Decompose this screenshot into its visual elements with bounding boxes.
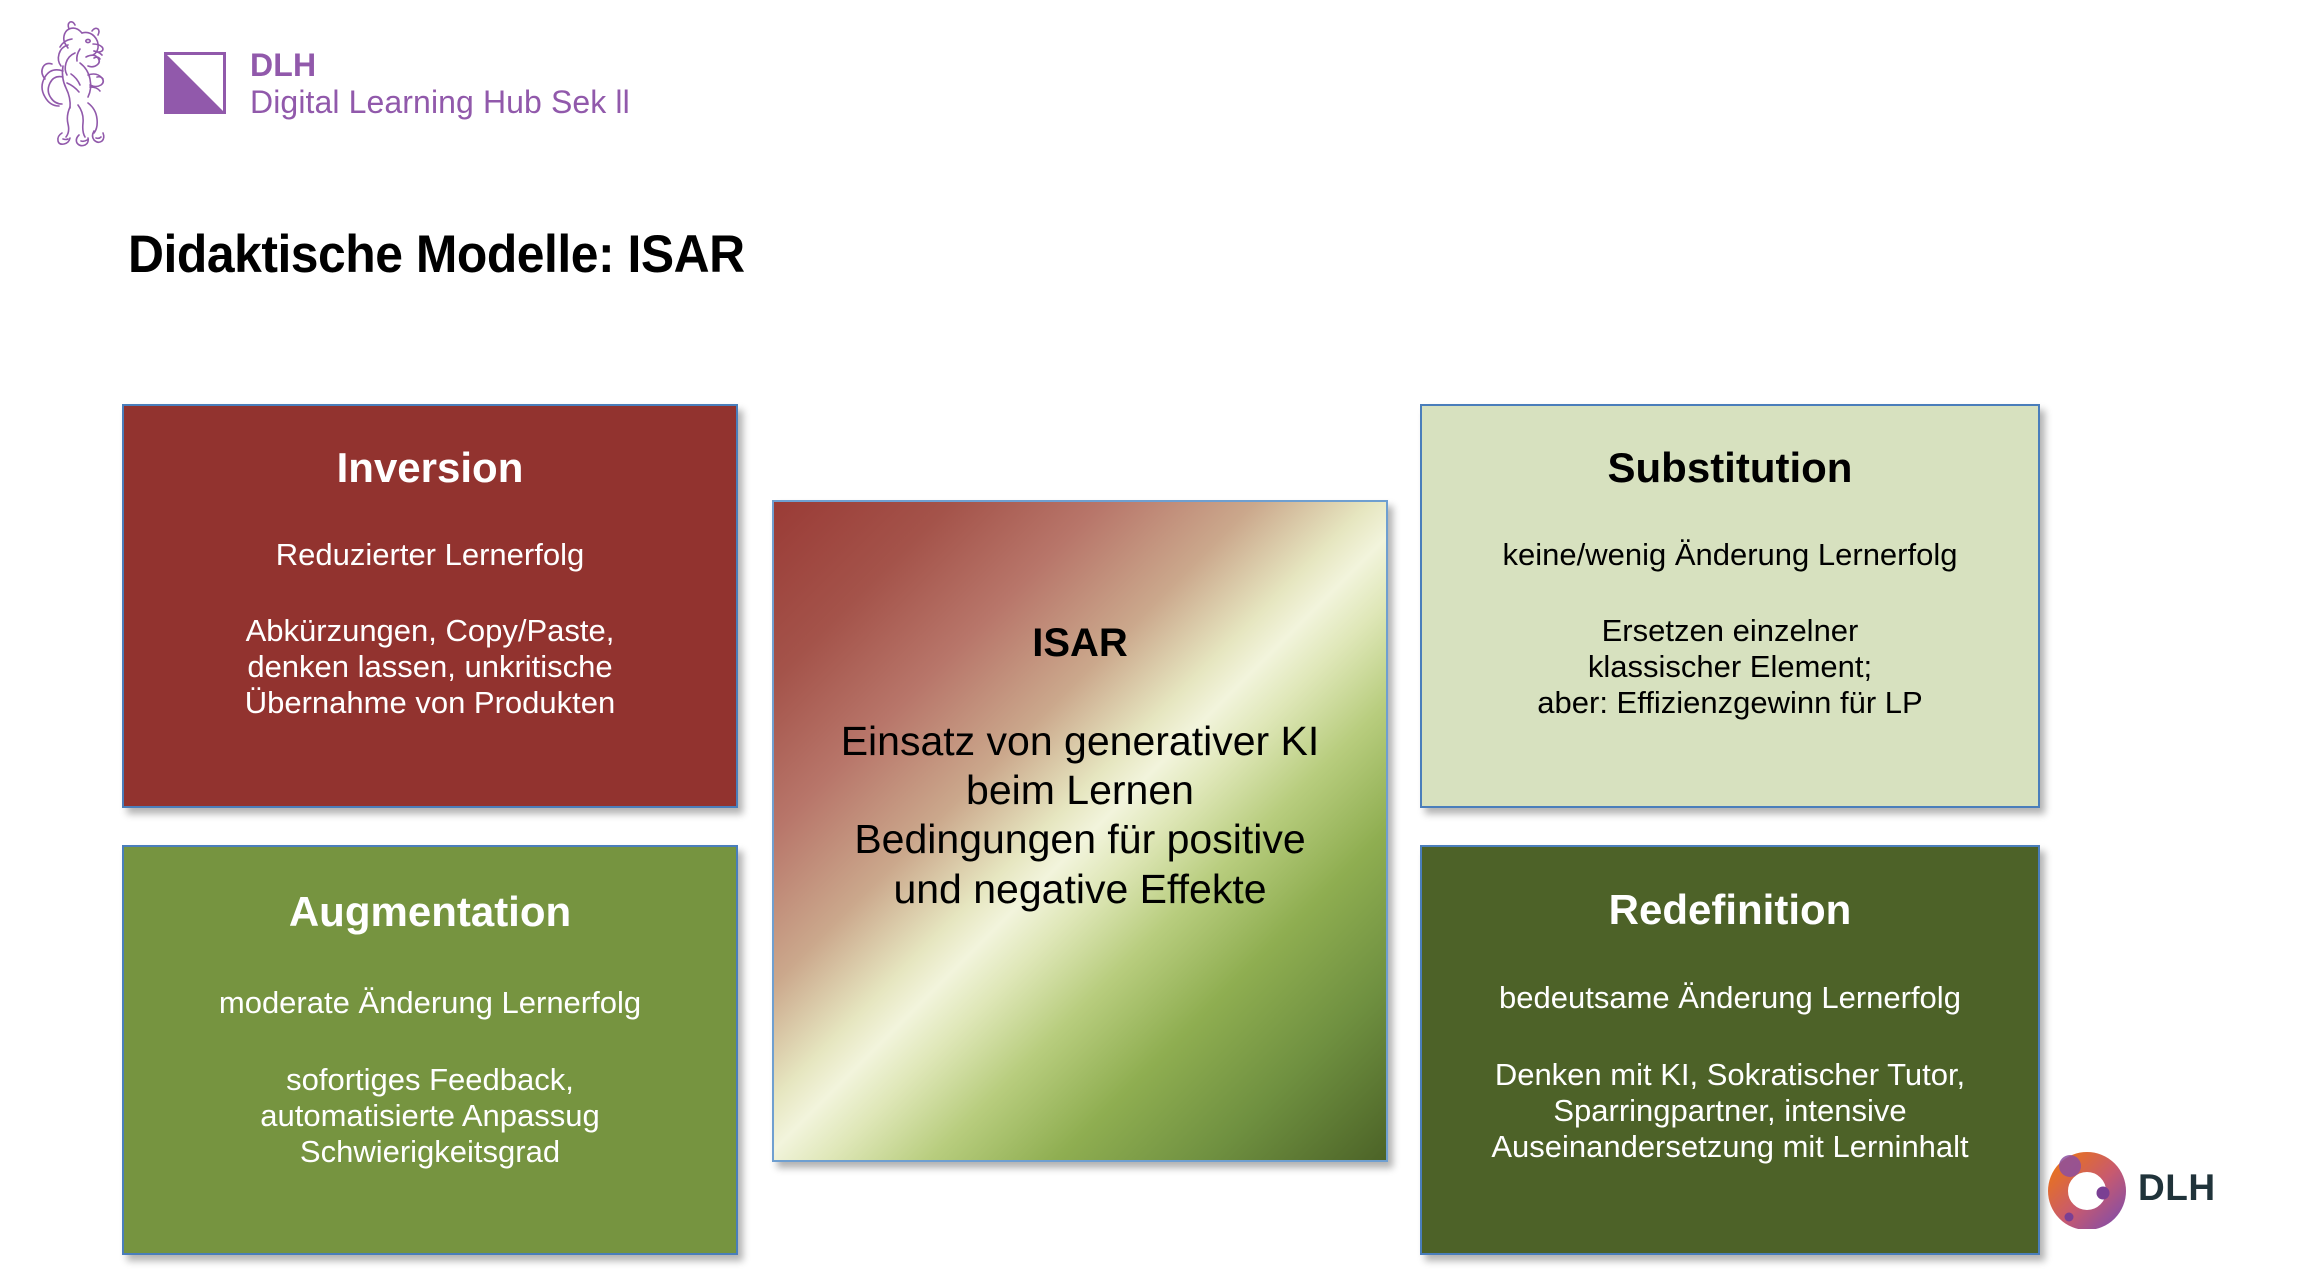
card-inversion-title: Inversion (337, 446, 524, 490)
card-redefinition-detail: Denken mit KI, Sokratischer Tutor, Sparr… (1491, 1057, 1968, 1165)
card-redefinition: Redefinition bedeutsame Änderung Lernerf… (1420, 845, 2040, 1255)
card-substitution-effect: keine/wenig Änderung Lernerfolg (1503, 537, 1958, 573)
card-isar-center: ISAR Einsatz von generativer KI beim Ler… (772, 500, 1388, 1162)
dlh-triangle-mark-icon (164, 52, 226, 114)
card-isar-body: Einsatz von generativer KI beim Lernen B… (827, 717, 1334, 914)
card-inversion-detail: Abkürzungen, Copy/Paste, denken lassen, … (245, 613, 616, 721)
dlh-footer-label: DLH (2138, 1167, 2216, 1209)
card-substitution-detail: Ersetzen einzelner klassischer Element; … (1537, 613, 1922, 721)
card-augmentation: Augmentation moderate Änderung Lernerfol… (122, 845, 738, 1255)
card-redefinition-title: Redefinition (1609, 888, 1852, 932)
dlh-footer-logo: DLH (2046, 1140, 2246, 1236)
brand-subtitle: Digital Learning Hub Sek ll (250, 86, 630, 118)
brand-header: DLH Digital Learning Hub Sek ll (22, 18, 642, 148)
card-substitution-title: Substitution (1608, 446, 1853, 490)
card-isar-title: ISAR (1032, 622, 1128, 664)
heraldic-lion-icon (22, 19, 140, 147)
dlh-ring-logo-icon (2046, 1147, 2128, 1229)
card-augmentation-title: Augmentation (289, 890, 571, 934)
card-redefinition-effect: bedeutsame Änderung Lernerfolg (1499, 980, 1961, 1016)
page-title: Didaktische Modelle: ISAR (128, 224, 745, 285)
card-augmentation-effect: moderate Änderung Lernerfolg (219, 985, 641, 1021)
card-augmentation-detail: sofortiges Feedback, automatisierte Anpa… (260, 1062, 600, 1170)
card-substitution: Substitution keine/wenig Änderung Lerner… (1420, 404, 2040, 808)
card-inversion-effect: Reduzierter Lernerfolg (276, 537, 584, 573)
card-inversion: Inversion Reduzierter Lernerfolg Abkürzu… (122, 404, 738, 808)
brand-title: DLH (250, 49, 630, 81)
brand-text: DLH Digital Learning Hub Sek ll (250, 49, 630, 118)
